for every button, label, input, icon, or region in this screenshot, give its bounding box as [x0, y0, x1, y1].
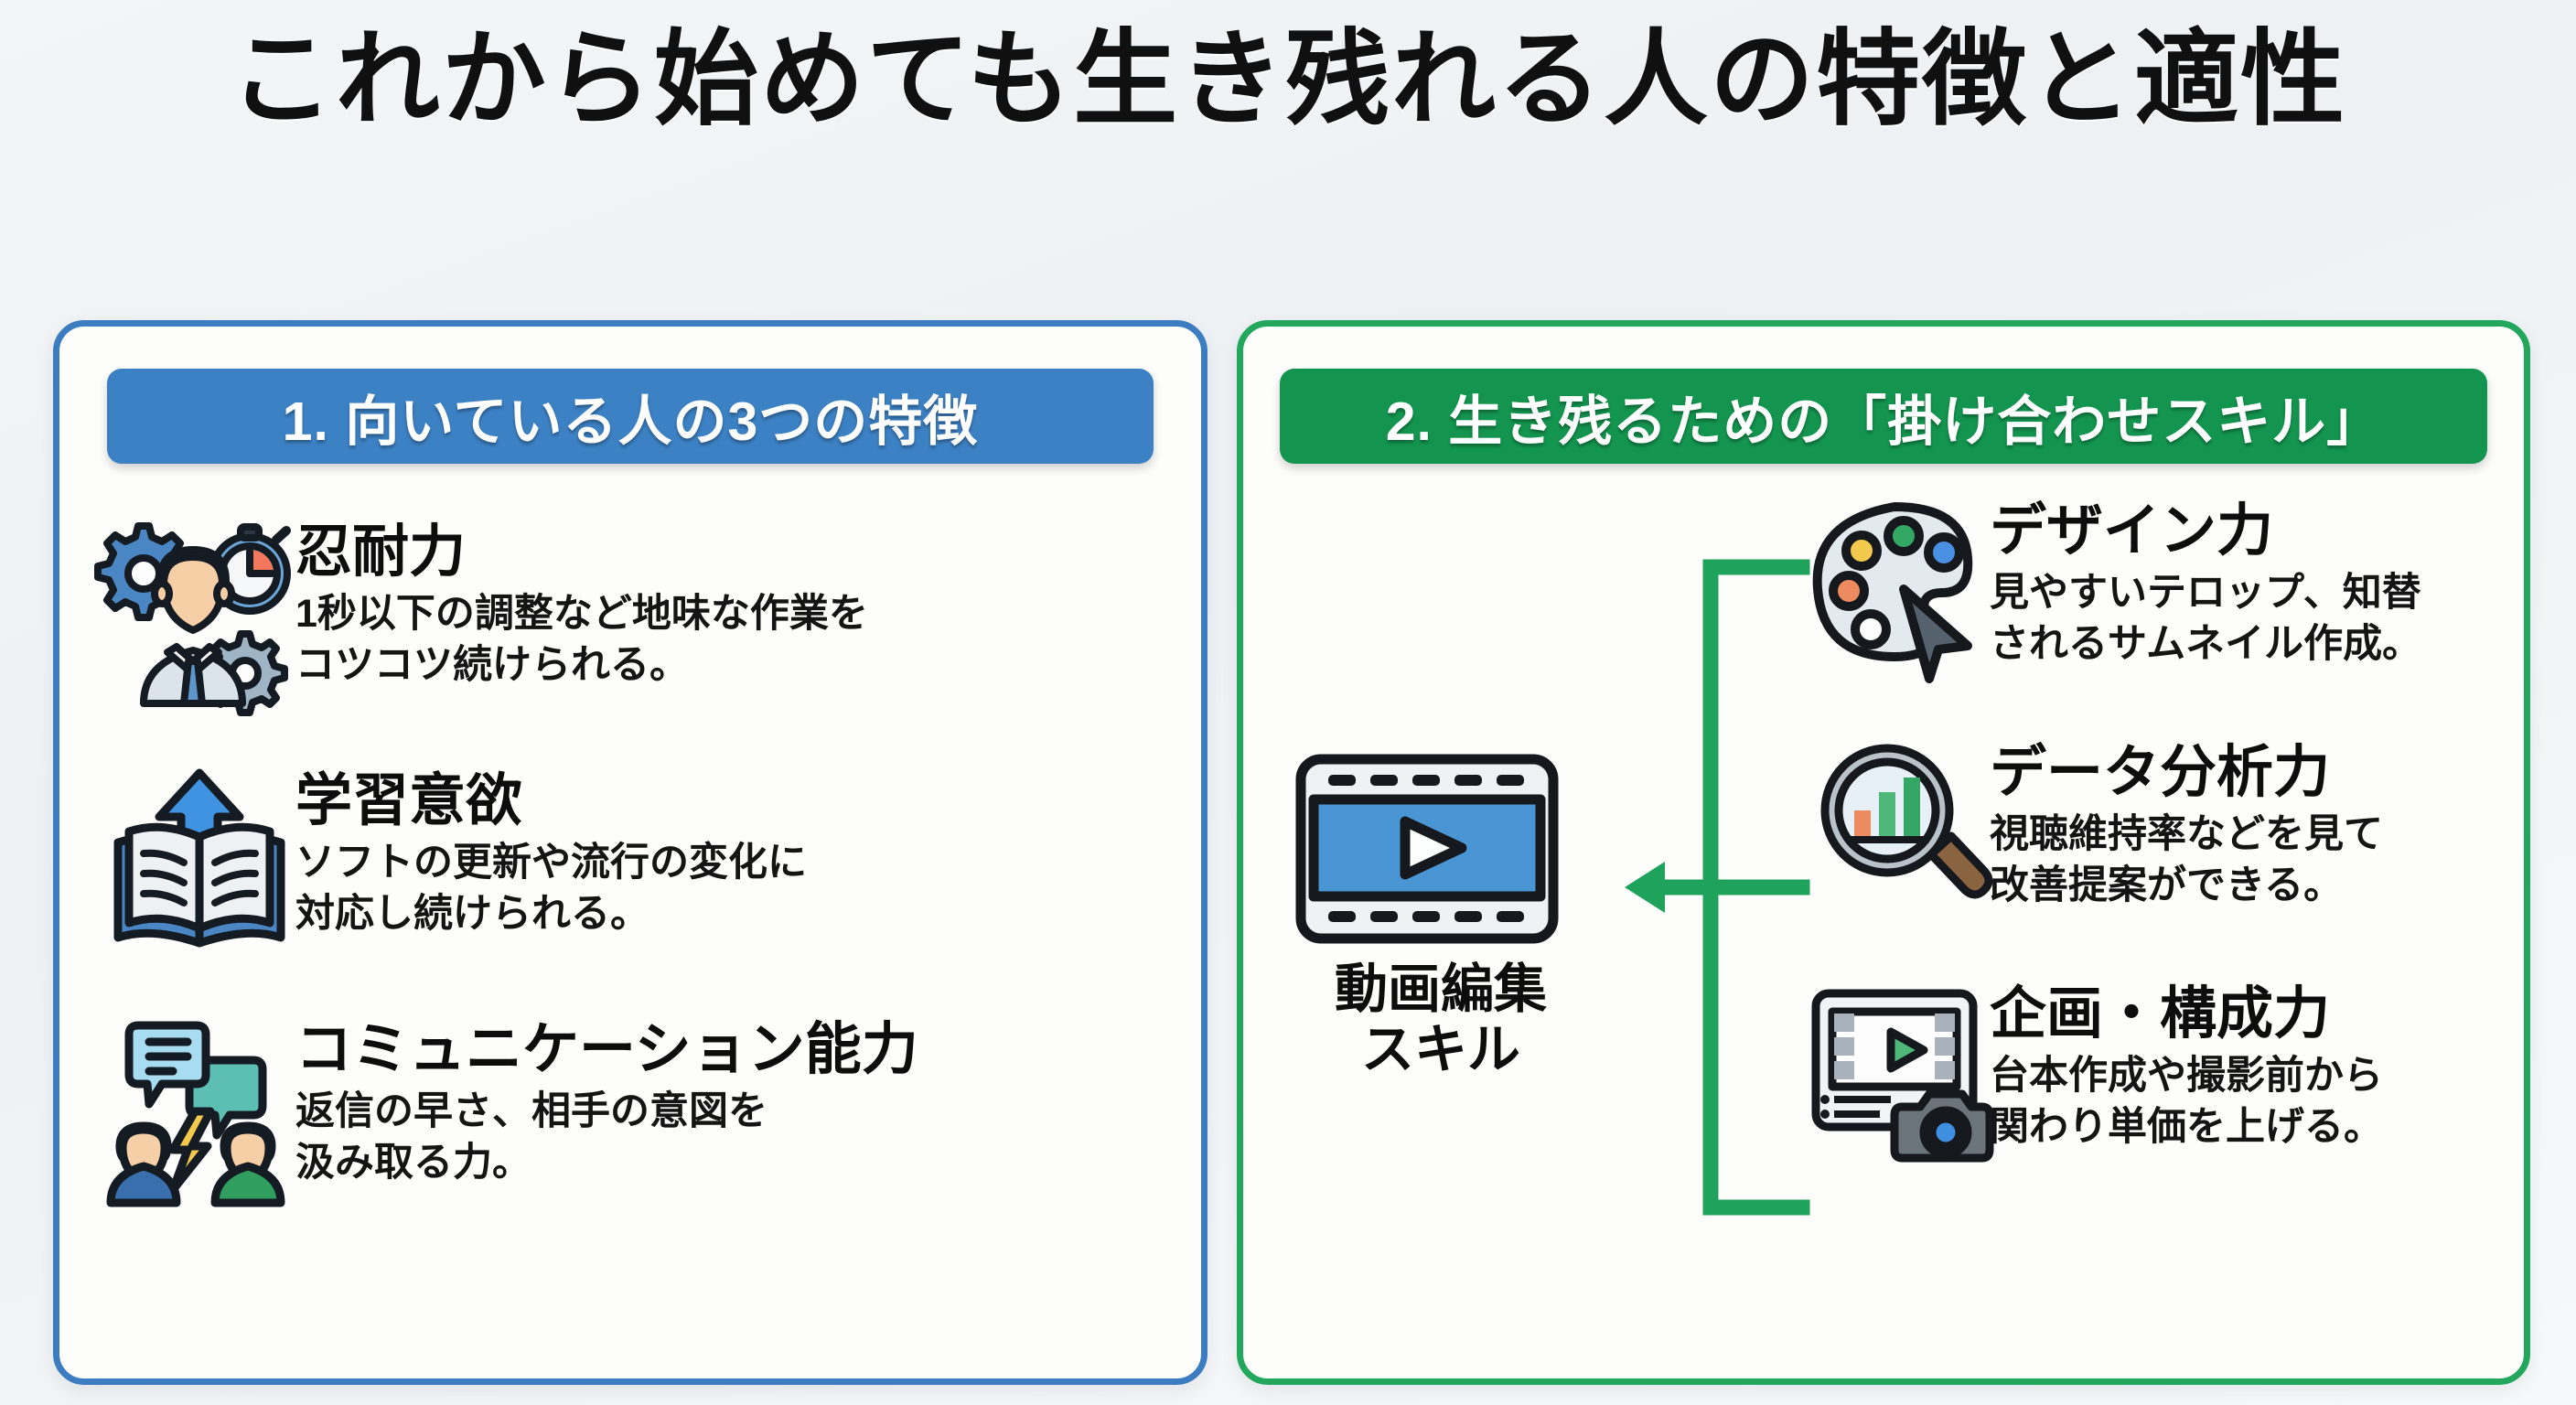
paint-palette-cursor-icon: [1807, 494, 1990, 677]
right-items-list: デザイン力 見やすいテロップ、知替 されるサムネイル作成。: [1807, 494, 2502, 1218]
two-people-speech-bubbles-icon: [103, 1007, 295, 1214]
list-item-text: デザイン力 見やすいテロップ、知替 されるサムネイル作成。: [1990, 494, 2421, 670]
open-book-up-arrow-icon: [103, 758, 295, 965]
list-item: 企画・構成力 台本作成や撮影前から 関わり単価を上げる。: [1807, 977, 2502, 1160]
page-title: これから始めても生き残れる人の特徴と適性: [0, 26, 2576, 135]
list-item-title: データ分析力: [1990, 741, 2383, 804]
list-item-text: データ分析力 視聴維持率などを見て 改善提案ができる。: [1990, 735, 2383, 912]
list-item-desc: 視聴維持率などを見て 改善提案ができる。: [1990, 810, 2383, 912]
right-panel-header-label: 2. 生き残るための「掛け合わせスキル」: [1386, 378, 2382, 456]
left-arrow-icon: [1625, 862, 1665, 913]
connector-bracket: [1619, 549, 1839, 1244]
person-gears-stopwatch-icon: [103, 509, 295, 716]
list-item: コミュニケーション能力 返信の早さ、相手の意図を 汲み取る力。: [103, 1007, 1174, 1214]
list-item: データ分析力 視聴維持率などを見て 改善提案ができる。: [1807, 735, 2502, 918]
hub-node: 動画編集 スキル: [1290, 750, 1592, 1080]
left-panel-header-label: 1. 向いている人の3つの特徴: [283, 378, 979, 456]
list-item-title: 企画・構成力: [1990, 982, 2383, 1046]
list-item-title: デザイン力: [1990, 499, 2421, 563]
infographic-page: これから始めても生き残れる人の特徴と適性 1. 向いている人の3つの特徴: [0, 0, 2576, 1405]
list-item-title: 忍耐力: [295, 520, 868, 584]
list-item-text: コミュニケーション能力 返信の早さ、相手の意図を 汲み取る力。: [295, 1007, 918, 1189]
left-panel-header: 1. 向いている人の3つの特徴: [107, 369, 1154, 464]
storyboard-camera-icon: [1807, 977, 1990, 1160]
list-item-title: 学習意欲: [295, 769, 807, 832]
list-item-desc: 返信の早さ、相手の意図を 汲み取る力。: [295, 1087, 918, 1189]
list-item: デザイン力 見やすいテロップ、知替 されるサムネイル作成。: [1807, 494, 2502, 677]
left-panel: 1. 向いている人の3つの特徴: [53, 320, 1207, 1385]
right-panel-header: 2. 生き残るための「掛け合わせスキル」: [1280, 369, 2487, 464]
list-item-text: 忍耐力 1秒以下の調整など地味な作業を コツコツ続けられる。: [295, 509, 868, 692]
list-item: 忍耐力 1秒以下の調整など地味な作業を コツコツ続けられる。: [103, 509, 1174, 716]
list-item-desc: ソフトの更新や流行の変化に 対応し続けられる。: [295, 838, 807, 940]
list-item-desc: 台本作成や撮影前から 関わり単価を上げる。: [1990, 1051, 2383, 1153]
list-item-title: コミュニケーション能力: [295, 1018, 918, 1081]
list-item-desc: 見やすいテロップ、知替 されるサムネイル作成。: [1990, 568, 2421, 670]
list-item-desc: 1秒以下の調整など地味な作業を コツコツ続けられる。: [295, 589, 868, 692]
list-item-text: 学習意欲 ソフトの更新や流行の変化に 対応し続けられる。: [295, 758, 807, 940]
video-player-filmstrip-icon: [1290, 750, 1564, 947]
magnifier-bar-chart-icon: [1807, 735, 1990, 918]
hub-label: 動画編集 スキル: [1290, 960, 1592, 1080]
list-item: 学習意欲 ソフトの更新や流行の変化に 対応し続けられる。: [103, 758, 1174, 965]
left-items-list: 忍耐力 1秒以下の調整など地味な作業を コツコツ続けられる。: [103, 509, 1174, 1256]
list-item-text: 企画・構成力 台本作成や撮影前から 関わり単価を上げる。: [1990, 977, 2383, 1153]
